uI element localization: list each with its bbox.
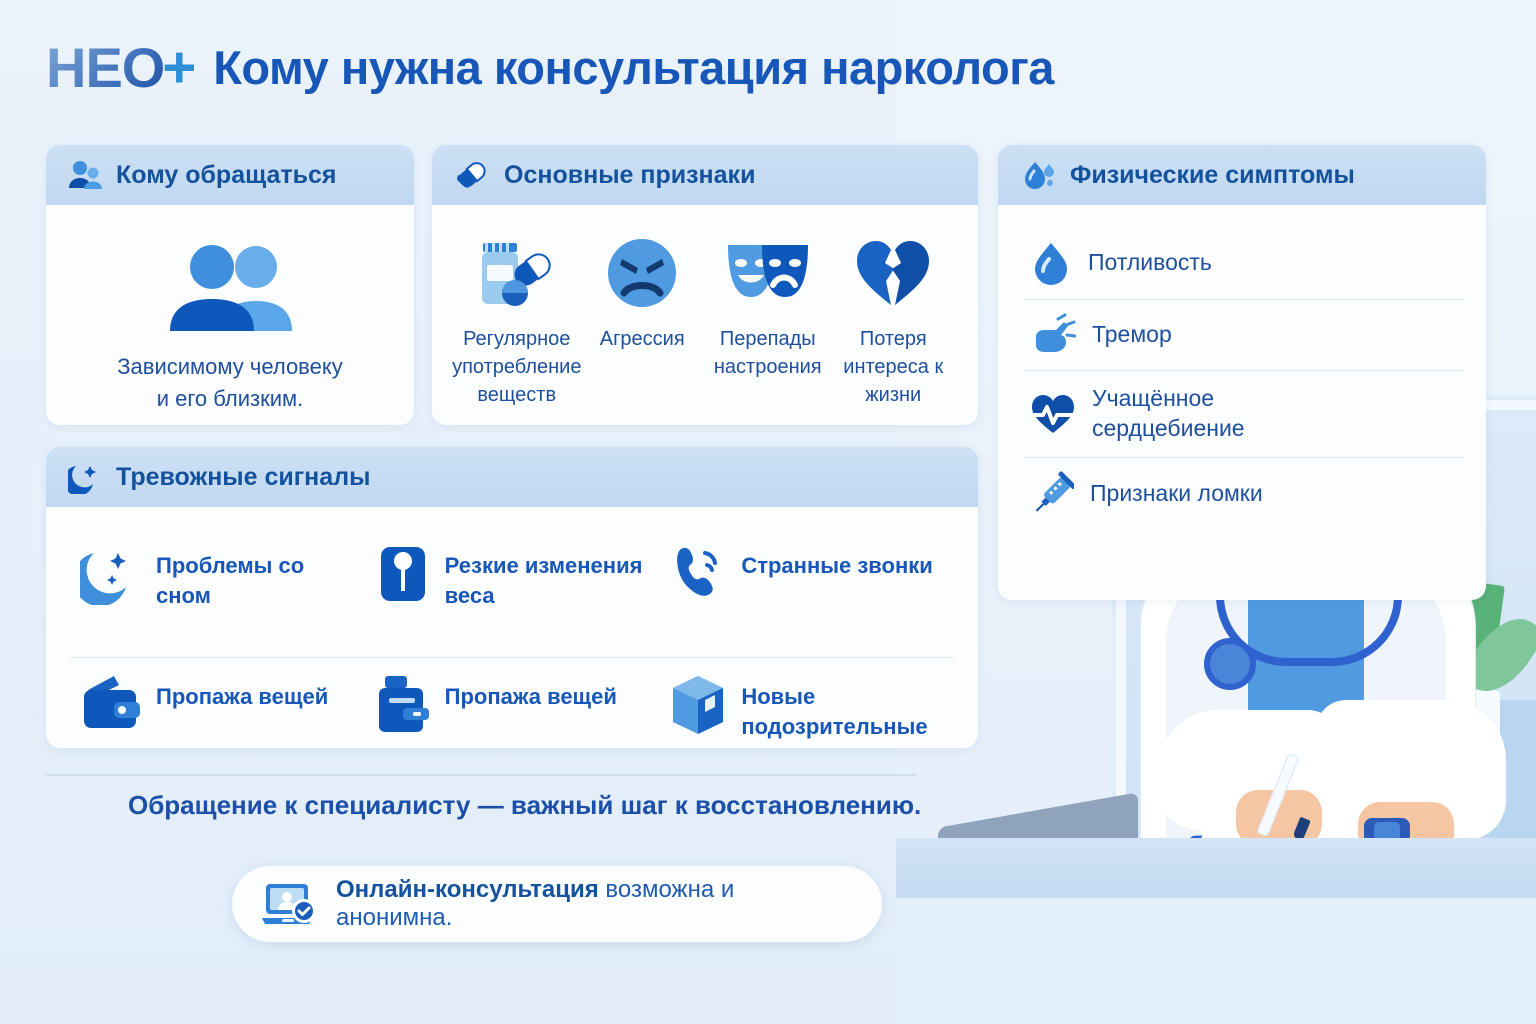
- alarm-label: Новые подозрительные предметы: [741, 674, 938, 748]
- panel-physical-symptoms: Физические симптомы Потливость: [998, 145, 1486, 600]
- panel-who-title: Кому обращаться: [116, 161, 337, 190]
- panel-who-body: Зависимому человеку и его близким.: [46, 205, 414, 425]
- panel-signs-body: Регулярное употребление веществ Агрессия: [432, 205, 978, 425]
- footer-divider: [46, 774, 916, 776]
- physical-symptom-item: Признаки ломки: [1024, 457, 1464, 530]
- page-title: Кому нужна консультация нарколога: [213, 40, 1054, 95]
- alarm-item: Резкие изменения веса: [365, 527, 660, 657]
- theatre-masks-icon: [722, 235, 814, 311]
- panel-alarm-title: Тревожные сигналы: [116, 463, 370, 492]
- wallet-icon: [80, 674, 142, 732]
- alarm-label: Проблемы со сном: [156, 543, 349, 610]
- sign-label: Потеря интереса к жизни: [832, 325, 954, 409]
- alarm-label: Пропажа вещей: [156, 674, 328, 712]
- physical-symptom-label: Признаки ломки: [1090, 479, 1263, 509]
- badge-text: Онлайн-консультация возможна и анонимна.: [336, 876, 852, 932]
- panel-alarm-body: Проблемы со сном Резкие изменения веса: [46, 507, 978, 748]
- bag-icon: [375, 674, 431, 734]
- moon-stars-icon: [80, 543, 142, 605]
- panel-who-text-line1: Зависимому человеку: [117, 351, 342, 383]
- physical-symptom-item: Потливость: [1024, 227, 1464, 299]
- water-drops-icon: [1020, 159, 1056, 191]
- badge-text-strong: Онлайн-консультация: [336, 876, 599, 903]
- alarm-item: Пропажа вещей: [365, 657, 660, 748]
- alarm-item: Проблемы со сном: [70, 527, 365, 657]
- physical-symptom-item: Учащённое сердцебиение: [1024, 370, 1464, 457]
- panel-alarm-header: Тревожные сигналы: [46, 447, 978, 507]
- panel-physical-title: Физические симптомы: [1070, 161, 1355, 190]
- physical-symptom-label: Потливость: [1088, 248, 1212, 278]
- sign-label: Перепады настроения: [707, 325, 829, 381]
- broken-heart-icon: [853, 235, 933, 311]
- sign-item: Потеря интереса к жизни: [832, 235, 954, 409]
- sign-item: Агрессия: [581, 235, 703, 409]
- sign-item: Перепады настроения: [707, 235, 829, 409]
- scale-icon: [375, 543, 431, 605]
- physical-symptom-item: Тремор: [1024, 299, 1464, 370]
- page-header: HEO+ Кому нужна консультация нарколога: [46, 34, 1054, 101]
- alarm-item: Странные звонки: [659, 527, 954, 657]
- alarm-label: Резкие изменения веса: [445, 543, 644, 610]
- brand-logo: HEO+: [46, 34, 195, 101]
- panel-signs-title: Основные признаки: [504, 161, 755, 190]
- package-icon: [669, 674, 727, 736]
- panel-main-signs: Основные признаки: [432, 145, 978, 425]
- physical-symptom-label: Тремор: [1092, 320, 1172, 350]
- footer-statement: Обращение к специалисту — важный шаг к в…: [128, 790, 921, 821]
- angry-face-icon: [604, 235, 680, 311]
- panel-signs-header: Основные признаки: [432, 145, 978, 205]
- panel-who-text-line2: и его близким.: [117, 383, 342, 415]
- brand-logo-text: HEO: [46, 35, 164, 100]
- alarm-label: Пропажа вещей: [445, 674, 617, 712]
- pill-bottle-icon: [475, 235, 559, 311]
- online-consultation-badge[interactable]: Онлайн-консультация возможна и анонимна.: [232, 866, 882, 942]
- panel-physical-body: Потливость Тремор: [998, 205, 1486, 546]
- alarm-item: Новые подозрительные предметы: [659, 657, 954, 748]
- alarm-item: Пропажа вещей: [70, 657, 365, 748]
- syringe-icon: [1030, 471, 1074, 517]
- panel-who-to-contact: Кому обращаться Зависимому человеку и ег…: [46, 145, 414, 425]
- sign-label: Регулярное употребление веществ: [452, 325, 581, 409]
- heartbeat-icon: [1030, 393, 1076, 435]
- panel-alarm-signals: Тревожные сигналы Проблемы со сном: [46, 447, 978, 748]
- panel-physical-header: Физические симптомы: [998, 145, 1486, 205]
- pills-icon: [454, 159, 490, 191]
- alarm-label: Странные звонки: [741, 543, 932, 581]
- moon-icon: [68, 460, 102, 494]
- phone-ringing-icon: [669, 543, 727, 605]
- sign-label: Агрессия: [600, 325, 685, 353]
- droplet-icon: [1030, 240, 1072, 286]
- panel-who-text: Зависимому человеку и его близким.: [117, 351, 342, 415]
- brand-logo-plus: +: [162, 34, 195, 101]
- two-people-icon: [160, 243, 300, 333]
- two-people-icon: [68, 160, 102, 190]
- sign-item: Регулярное употребление веществ: [456, 235, 578, 409]
- laptop-verified-icon: [262, 880, 318, 928]
- trembling-hand-icon: [1030, 313, 1076, 357]
- panel-who-header: Кому обращаться: [46, 145, 414, 205]
- physical-symptom-label: Учащённое сердцебиение: [1092, 384, 1322, 444]
